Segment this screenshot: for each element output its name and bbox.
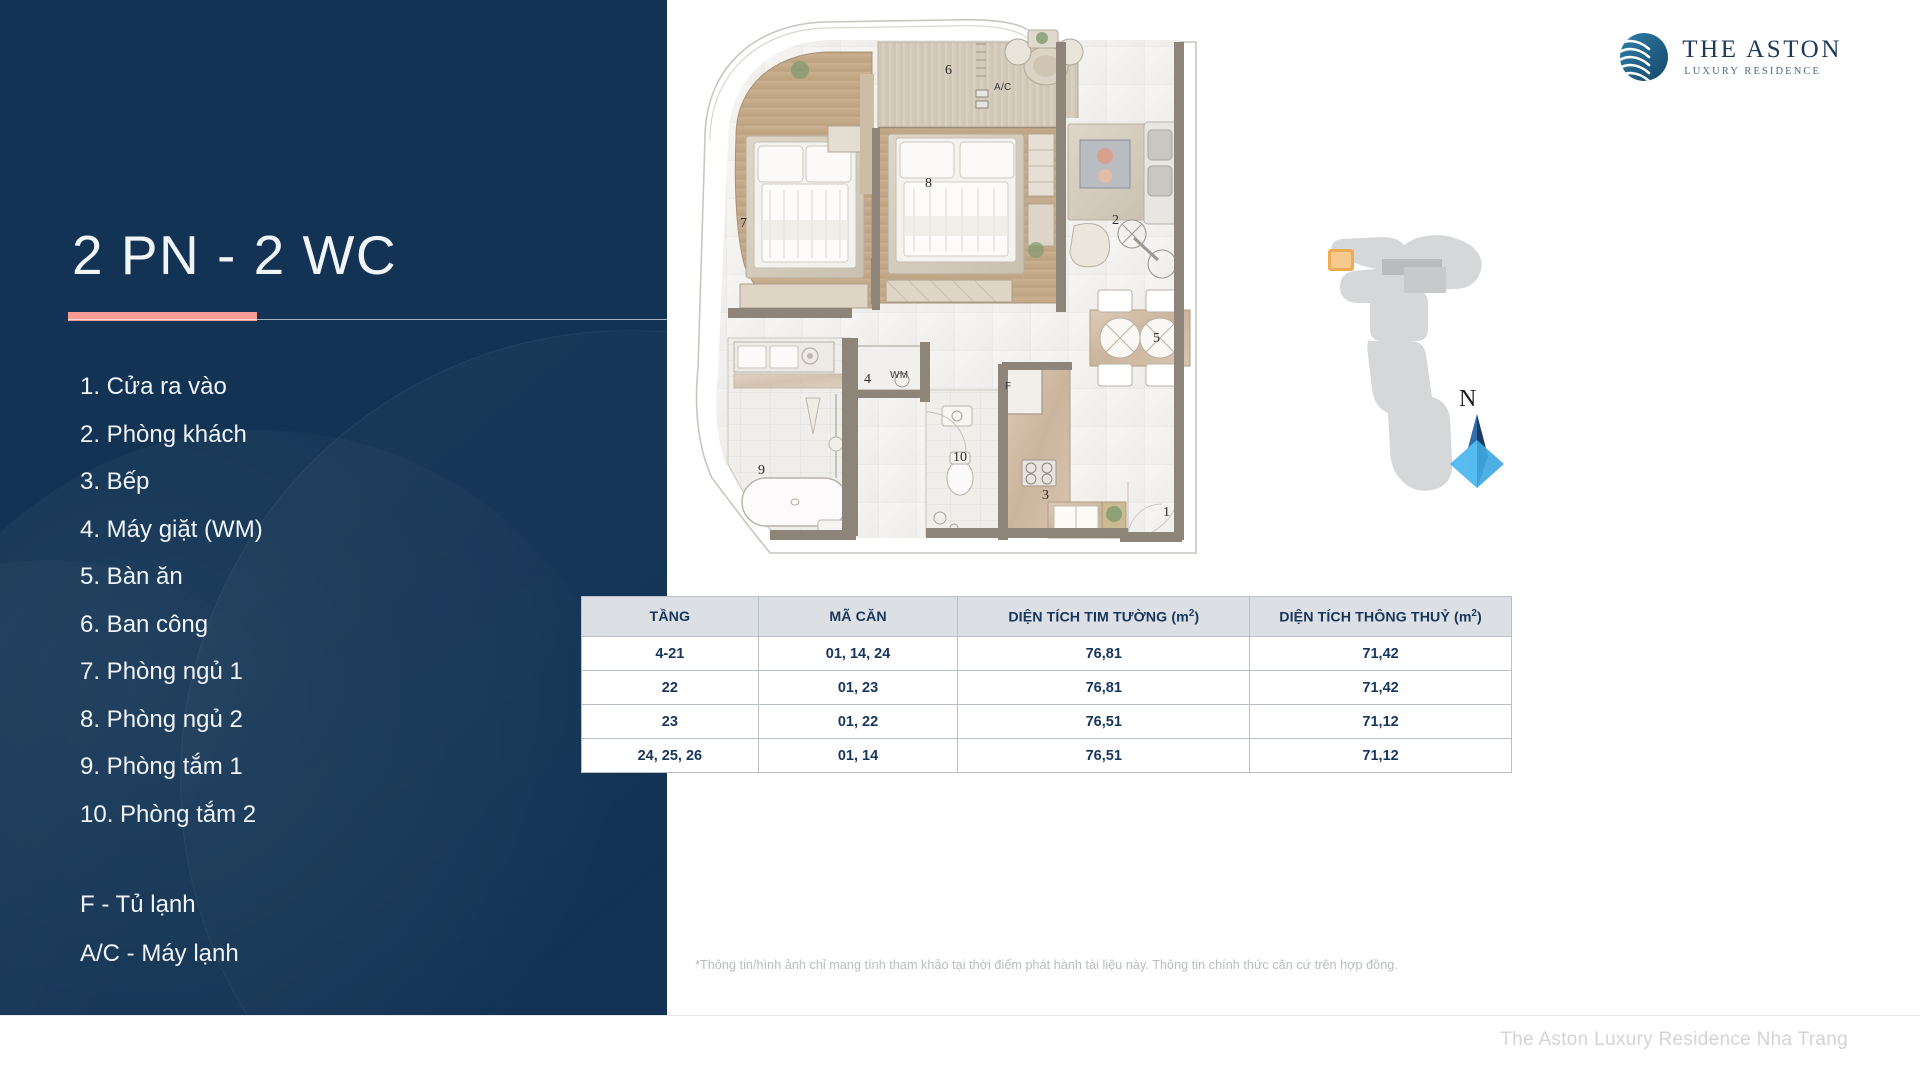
footer-divider <box>0 1015 1920 1016</box>
table-body: 4-2101, 14, 2476,8171,422201, 2376,8171,… <box>582 637 1512 773</box>
cell-unit-code: 01, 23 <box>758 671 958 705</box>
room-number-3: 3 <box>1042 488 1049 504</box>
logo-title: THE ASTON <box>1682 37 1842 63</box>
floor-plan-drawing <box>650 8 1240 578</box>
wave-circle-logo-icon <box>1619 32 1669 82</box>
cell-wall-area: 76,81 <box>958 637 1250 671</box>
cell-wall-area: 76,51 <box>958 705 1250 739</box>
cell-wall-area: 76,51 <box>958 739 1250 773</box>
table-row: 2201, 2376,8171,42 <box>582 671 1512 705</box>
cell-carpet-area: 71,42 <box>1250 637 1512 671</box>
table-row: 2301, 2276,5171,12 <box>582 705 1512 739</box>
unit-spec-table: TẦNG MÃ CĂN DIỆN TÍCH TIM TƯỜNG (m2) DIỆ… <box>581 596 1512 773</box>
cell-wall-area: 76,81 <box>958 671 1250 705</box>
room-number-7: 7 <box>740 216 747 232</box>
cell-floor: 22 <box>582 671 759 705</box>
room-number-5: 5 <box>1153 331 1160 347</box>
plan-label-f: F <box>1005 381 1011 392</box>
room-number-9: 9 <box>758 463 765 479</box>
legend-item: 1. Cửa ra vào <box>80 375 560 399</box>
room-number-1: 1 <box>1163 505 1170 521</box>
table-disclaimer-note: *Thông tin/hình ảnh chỉ mang tính tham k… <box>581 958 1512 972</box>
floor-plan: 67825491031 A/CWMF <box>650 8 1240 578</box>
legend-item: 8. Phòng ngủ 2 <box>80 708 560 732</box>
legend-note: A/C - Máy lạnh <box>80 942 560 966</box>
column-header-wall-area: DIỆN TÍCH TIM TƯỜNG (m2) <box>958 597 1250 637</box>
column-header-floor: TẦNG <box>582 597 759 637</box>
legend-item: 4. Máy giặt (WM) <box>80 518 560 542</box>
brand-logo: THE ASTON LUXURY RESIDENCE <box>1619 32 1842 82</box>
legend-item: 7. Phòng ngủ 1 <box>80 660 560 684</box>
legend-item: 6. Ban công <box>80 613 560 637</box>
room-number-8: 8 <box>925 176 932 192</box>
cell-unit-code: 01, 14 <box>758 739 958 773</box>
cell-floor: 4-21 <box>582 637 759 671</box>
legend-item: 5. Bàn ăn <box>80 565 560 589</box>
cell-unit-code: 01, 14, 24 <box>758 637 958 671</box>
cell-carpet-area: 71,42 <box>1250 671 1512 705</box>
column-header-carpet-area: DIỆN TÍCH THÔNG THUỶ (m2) <box>1250 597 1512 637</box>
legend-item: 3. Bếp <box>80 470 560 494</box>
cell-floor: 24, 25, 26 <box>582 739 759 773</box>
cell-carpet-area: 71,12 <box>1250 705 1512 739</box>
legend-item: 2. Phòng khách <box>80 423 560 447</box>
room-number-10: 10 <box>953 450 967 466</box>
plan-label-a-c: A/C <box>994 82 1012 93</box>
room-number-6: 6 <box>945 63 952 79</box>
legend-item: 9. Phòng tắm 1 <box>80 755 560 779</box>
cell-floor: 23 <box>582 705 759 739</box>
table-row: 24, 25, 2601, 1476,5171,12 <box>582 739 1512 773</box>
title-rule-line <box>68 319 668 320</box>
table-header-row: TẦNG MÃ CĂN DIỆN TÍCH TIM TƯỜNG (m2) DIỆ… <box>582 597 1512 637</box>
table-row: 4-2101, 14, 2476,8171,42 <box>582 637 1512 671</box>
compass-north-label: N <box>1459 386 1476 413</box>
footer-watermark: The Aston Luxury Residence Nha Trang <box>1500 1029 1848 1051</box>
legend-list: 1. Cửa ra vào2. Phòng khách3. Bếp4. Máy … <box>80 375 560 850</box>
page-title: 2 PN - 2 WC <box>72 228 397 283</box>
legend-note: F - Tủ lạnh <box>80 893 560 917</box>
room-number-4: 4 <box>864 372 871 388</box>
compass: N <box>1442 388 1512 488</box>
room-number-2: 2 <box>1112 213 1119 229</box>
title-divider <box>68 312 668 321</box>
column-header-unit-code: MÃ CĂN <box>758 597 958 637</box>
cell-unit-code: 01, 22 <box>758 705 958 739</box>
legend-item: 10. Phòng tắm 2 <box>80 803 560 827</box>
cell-carpet-area: 71,12 <box>1250 739 1512 773</box>
plan-label-wm: WM <box>890 370 908 381</box>
legend-notes: F - Tủ lạnhA/C - Máy lạnh <box>80 893 560 991</box>
logo-subtitle: LUXURY RESIDENCE <box>1684 66 1842 77</box>
